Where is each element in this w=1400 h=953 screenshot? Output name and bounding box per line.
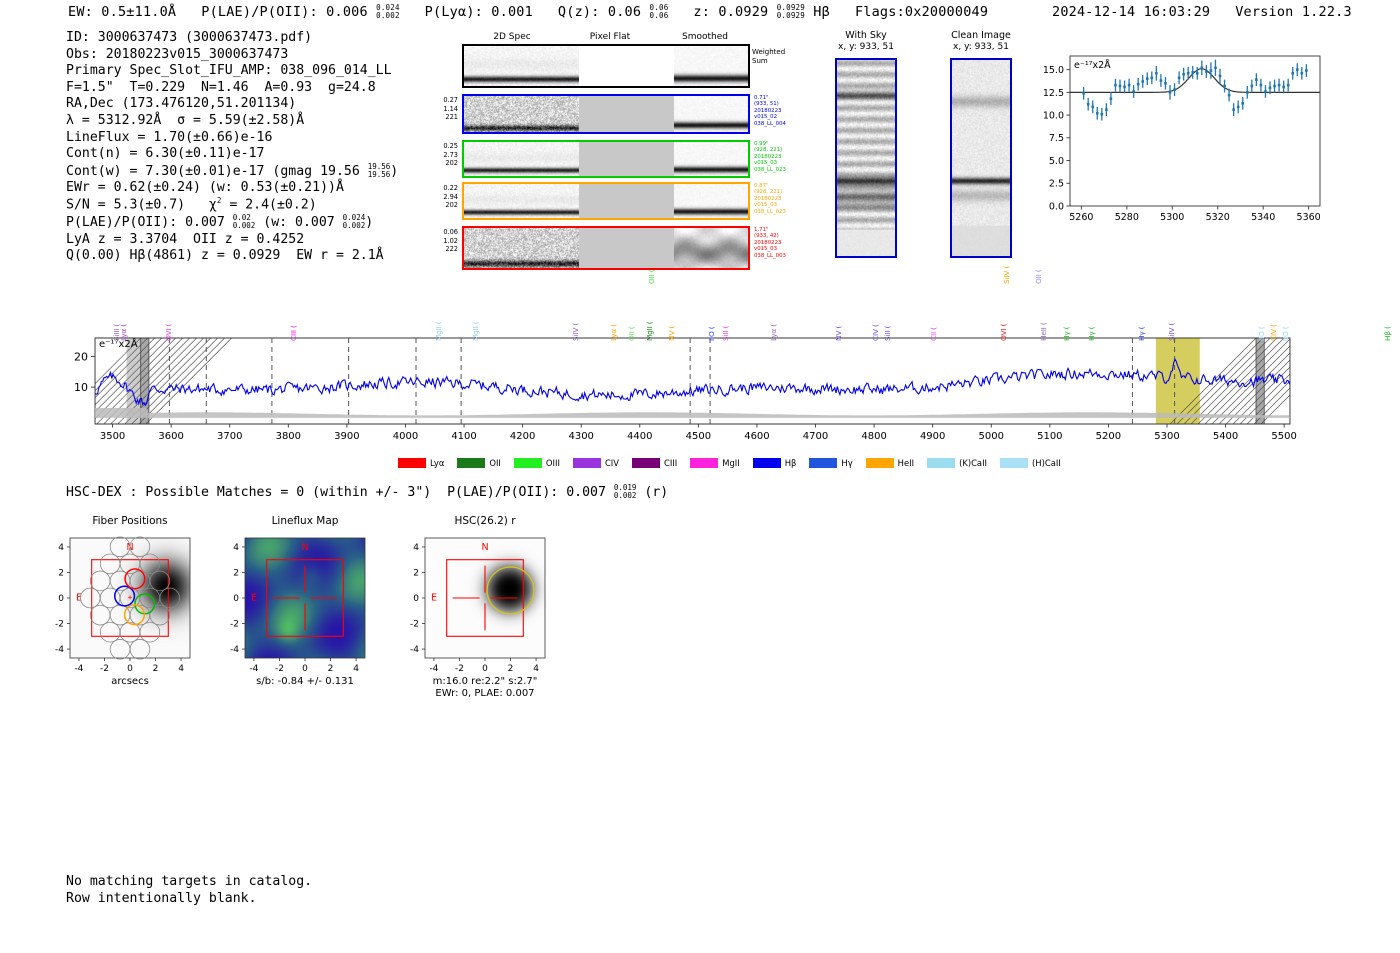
cutout-col-title-2dspec: 2D Spec <box>462 32 562 42</box>
svg-text:2.5: 2.5 <box>1049 179 1064 190</box>
emission-line-label: OII ( <box>1035 226 1042 284</box>
svg-text:15.0: 15.0 <box>1043 65 1064 76</box>
legend-item: Hβ <box>753 452 810 471</box>
legend-swatch <box>927 458 955 468</box>
footer-line-2: Row intentionally blank. <box>66 891 257 906</box>
svg-text:5320: 5320 <box>1206 212 1230 223</box>
emission-line-label: Hβ ( <box>1384 283 1391 341</box>
svg-text:-4: -4 <box>249 664 258 674</box>
info-line-redshift: LyA z = 3.3704 OII z = 0.4252 <box>66 232 398 249</box>
info-line: ID: 3000637473 (3000637473.pdf) <box>66 30 398 47</box>
svg-text:s/b: -0.84 +/- 0.131: s/b: -0.84 +/- 0.131 <box>256 676 354 687</box>
emission-line-label: CIII ( <box>290 283 297 341</box>
info-line: Primary Spec_Slot_IFU_AMP: 038_096_014_L… <box>66 63 398 80</box>
legend-label: (H)CaII <box>1032 458 1061 468</box>
cutout-row-left-values: 0.25 2.73 202 <box>428 142 458 168</box>
svg-text:7.5: 7.5 <box>1049 133 1064 144</box>
svg-text:-2: -2 <box>230 620 239 630</box>
spectrum-legend: LyαOIIOIIICIVCIIIMgIIHβHγHeII(K)CaII(H)C… <box>398 452 1074 471</box>
svg-text:12.5: 12.5 <box>1043 88 1064 99</box>
svg-text:Lineflux Map: Lineflux Map <box>272 515 339 527</box>
svg-text:+: + <box>128 593 133 602</box>
emission-line-label: Hγ ( <box>1063 283 1070 341</box>
legend-swatch <box>632 458 660 468</box>
info-line-plae: P(LAE)/P(OII): 0.007 0.020.002 (w: 0.007… <box>66 214 398 232</box>
svg-text:0: 0 <box>413 594 419 604</box>
legend-item: CIV <box>573 452 632 471</box>
cutout-mosaic: 2D Spec Pixel Flat Smoothed WeightedSum … <box>440 30 800 265</box>
svg-text:0.0: 0.0 <box>1049 201 1064 212</box>
footer-line-1: No matching targets in catalog. <box>66 874 312 889</box>
svg-text:EWr: 0, PLAE: 0.007: EWr: 0, PLAE: 0.007 <box>435 688 534 699</box>
legend-swatch <box>690 458 718 468</box>
emission-line-label: SiIV ( <box>572 283 579 341</box>
legend-item: (K)CaII <box>927 452 1000 471</box>
legend-label: Lyα <box>430 458 444 468</box>
emission-line-label: Lyα ( <box>770 283 777 341</box>
emission-line-label: Lyα ( <box>120 283 127 341</box>
image-panel-frame <box>835 58 897 258</box>
svg-text:arcsecs: arcsecs <box>111 676 149 687</box>
info-line: F=1.5" T=0.229 N=1.46 A=0.93 g=24.8 <box>66 80 398 97</box>
hscdex-header: HSC-DEX : Possible Matches = 0 (within +… <box>66 484 668 500</box>
header-summary-line: EW: 0.5±11.0Å P(LAE)/P(OII): 0.006 0.024… <box>68 4 988 20</box>
info-line: Cont(n) = 6.30(±0.11)e-17 <box>66 146 398 163</box>
svg-text:0: 0 <box>482 664 488 674</box>
svg-text:m:16.0 re:2.2" s:2.7": m:16.0 re:2.2" s:2.7" <box>433 676 538 687</box>
legend-swatch <box>809 458 837 468</box>
svg-text:0: 0 <box>302 664 308 674</box>
info-line: LineFlux = 1.70(±0.66)e-16 <box>66 130 398 147</box>
svg-text:4: 4 <box>353 664 359 674</box>
svg-text:-2: -2 <box>100 664 109 674</box>
emission-line-labels: SiIII (Lyα (OVI (CIII (MgII (MgII (SiIV … <box>0 272 1400 452</box>
legend-swatch <box>457 458 485 468</box>
target-info-block: ID: 3000637473 (3000637473.pdf)Obs: 2018… <box>66 30 398 265</box>
emission-line-label: SiIV ( <box>1168 283 1175 341</box>
legend-swatch <box>573 458 601 468</box>
legend-label: (K)CaII <box>959 458 987 468</box>
legend-item: Lyα <box>398 452 457 471</box>
svg-text:-4: -4 <box>55 645 64 655</box>
cutout-row-weighted-sum <box>462 44 750 88</box>
emission-line-label: Hγ ( <box>1088 283 1095 341</box>
cutout-row-left-values: 0.22 2.94 202 <box>428 184 458 210</box>
legend-item: (H)CaII <box>1000 452 1074 471</box>
svg-text:2: 2 <box>413 568 419 578</box>
emission-line-label: NV ( <box>835 283 842 341</box>
svg-text:5260: 5260 <box>1069 212 1093 223</box>
info-line-cont-w: Cont(w) = 7.30(±0.01)e-17 (gmag 19.56 19… <box>66 163 398 181</box>
svg-text:4: 4 <box>413 543 419 553</box>
legend-label: Hγ <box>841 458 852 468</box>
legend-item: MgII <box>690 452 752 471</box>
emission-line-label: OII ( <box>628 283 635 341</box>
info-line: λ = 5312.92Å σ = 5.59(±2.58)Å <box>66 113 398 130</box>
svg-text:Fiber Positions: Fiber Positions <box>92 515 167 527</box>
emission-line-label: Hγ ( <box>1138 283 1145 341</box>
svg-text:5.0: 5.0 <box>1049 156 1064 167</box>
svg-text:4: 4 <box>178 664 184 674</box>
svg-text:2: 2 <box>58 568 64 578</box>
svg-text:5280: 5280 <box>1115 212 1139 223</box>
svg-text:4: 4 <box>233 543 239 553</box>
image-panel-subtitle: x, y: 933, 51 <box>937 42 1025 52</box>
info-line-sn: S/N = 5.3(±0.7) χ2 = 2.4(±0.2) <box>66 197 398 214</box>
emission-line-label: CIV ( <box>872 283 879 341</box>
line-fit-zoom-plot: 5260528053005320534053600.02.55.07.510.0… <box>1028 46 1328 232</box>
legend-label: CIV <box>605 458 619 468</box>
svg-text:-4: -4 <box>429 664 438 674</box>
info-line-q: Q(0.00) Hβ(4861) z = 0.0929 EW r = 2.1Å <box>66 248 398 265</box>
svg-text:0: 0 <box>233 594 239 604</box>
emission-line-label: OVI ( <box>165 283 172 341</box>
svg-text:E: E <box>431 592 437 603</box>
legend-item: CIII <box>632 452 690 471</box>
emission-line-label: HeII ( <box>1040 283 1047 341</box>
svg-text:2: 2 <box>328 664 334 674</box>
emission-line-label: MgII ( <box>646 283 653 341</box>
cutout-row <box>462 94 750 134</box>
info-line: RA,Dec (173.476120,51.201134) <box>66 96 398 113</box>
emission-line-label: OVI ( <box>1000 283 1007 341</box>
legend-swatch <box>866 458 894 468</box>
info-line: Obs: 20180223v015_3000637473 <box>66 47 398 64</box>
svg-text:e⁻¹⁷x2Å: e⁻¹⁷x2Å <box>1074 59 1111 71</box>
cutout-row-left-values: 0.06 1.02 222 <box>428 228 458 254</box>
info-line-ewr: EWr = 0.62(±0.24) (w: 0.53(±0.21))Å <box>66 180 398 197</box>
emission-line-label: IIO ( <box>1282 283 1289 341</box>
emission-line-label: IIO ( <box>1258 283 1265 341</box>
emission-line-label: SiII ( <box>884 283 891 341</box>
svg-text:5300: 5300 <box>1160 212 1184 223</box>
svg-text:0: 0 <box>127 664 133 674</box>
emission-line-label: MgII ( <box>472 283 479 341</box>
cutout-col-title-smoothed: Smoothed <box>655 32 755 42</box>
emission-line-label: SiII ( <box>722 283 729 341</box>
svg-text:2: 2 <box>508 664 514 674</box>
svg-text:0: 0 <box>58 594 64 604</box>
svg-text:-4: -4 <box>410 645 419 655</box>
svg-text:N: N <box>481 542 488 553</box>
emission-line-label: OII ( <box>648 226 655 284</box>
legend-item: OII <box>457 452 514 471</box>
cutout-row-meta: 1.71" (933, 42) 20180223 v015_03 038_LL_… <box>754 227 786 259</box>
full-spectrum-plot: 3500360037003800390040004100420043004400… <box>0 272 1400 452</box>
svg-text:-4: -4 <box>74 664 83 674</box>
weighted-sum-label: WeightedSum <box>752 48 785 66</box>
svg-text:E: E <box>251 592 257 603</box>
svg-text:-2: -2 <box>410 620 419 630</box>
legend-swatch <box>753 458 781 468</box>
svg-text:N: N <box>301 542 308 553</box>
cutout-row <box>462 182 750 220</box>
svg-text:5340: 5340 <box>1251 212 1275 223</box>
svg-text:-2: -2 <box>55 620 64 630</box>
image-panel-subtitle: x, y: 933, 51 <box>822 42 910 52</box>
legend-label: Hβ <box>785 458 797 468</box>
legend-label: OII <box>489 458 501 468</box>
legend-swatch <box>398 458 426 468</box>
legend-label: OIII <box>546 458 560 468</box>
legend-item: HeII <box>866 452 927 471</box>
hscdex-panels: Fiber Positions-4-4-2-2002244NE+arcsecsL… <box>40 508 680 738</box>
svg-text:2: 2 <box>233 568 239 578</box>
svg-text:HSC(26.2) r: HSC(26.2) r <box>454 515 516 527</box>
cutout-row-meta: 0.71" (933, 51) 20180223 v015_02 038_LL_… <box>754 95 786 127</box>
legend-label: MgII <box>722 458 739 468</box>
cutout-row-left-values: 0.27 1.14 221 <box>428 96 458 122</box>
svg-text:10.0: 10.0 <box>1043 110 1064 121</box>
emission-line-label: CII ( <box>930 283 937 341</box>
cutout-row <box>462 226 750 270</box>
emission-line-label: Lyα ( <box>610 283 617 341</box>
svg-text:-2: -2 <box>455 664 464 674</box>
image-panel-title: Clean Image <box>937 30 1025 41</box>
svg-text:4: 4 <box>58 543 64 553</box>
legend-item: OIII <box>514 452 573 471</box>
svg-text:4: 4 <box>533 664 539 674</box>
svg-text:-4: -4 <box>230 645 239 655</box>
cutout-row-meta: 0.99" (928, 221) 20180223 v015_03 038_LL… <box>754 141 786 173</box>
cutout-row-meta: 0.87" (928, 221) 20180223 v015_03 038_LL… <box>754 183 786 215</box>
svg-text:-2: -2 <box>275 664 284 674</box>
emission-line-label: NV ( <box>668 283 675 341</box>
svg-text:5360: 5360 <box>1297 212 1321 223</box>
cutout-row <box>462 140 750 178</box>
emission-line-label: IIO ( <box>708 283 715 341</box>
header-timestamp: 2024-12-14 16:03:29 Version 1.22.3 <box>1052 4 1352 20</box>
cutout-col-title-pixelflat: Pixel Flat <box>560 32 660 42</box>
legend-swatch <box>1000 458 1028 468</box>
legend-label: HeII <box>898 458 914 468</box>
emission-line-label: CIV ( <box>1270 283 1277 341</box>
legend-swatch <box>514 458 542 468</box>
legend-label: CIII <box>664 458 677 468</box>
legend-item: Hγ <box>809 452 865 471</box>
image-panel-title: With Sky <box>822 30 910 41</box>
emission-line-label: SiIV ( <box>1003 226 1010 284</box>
emission-line-label: MgII ( <box>435 283 442 341</box>
svg-text:2: 2 <box>153 664 159 674</box>
